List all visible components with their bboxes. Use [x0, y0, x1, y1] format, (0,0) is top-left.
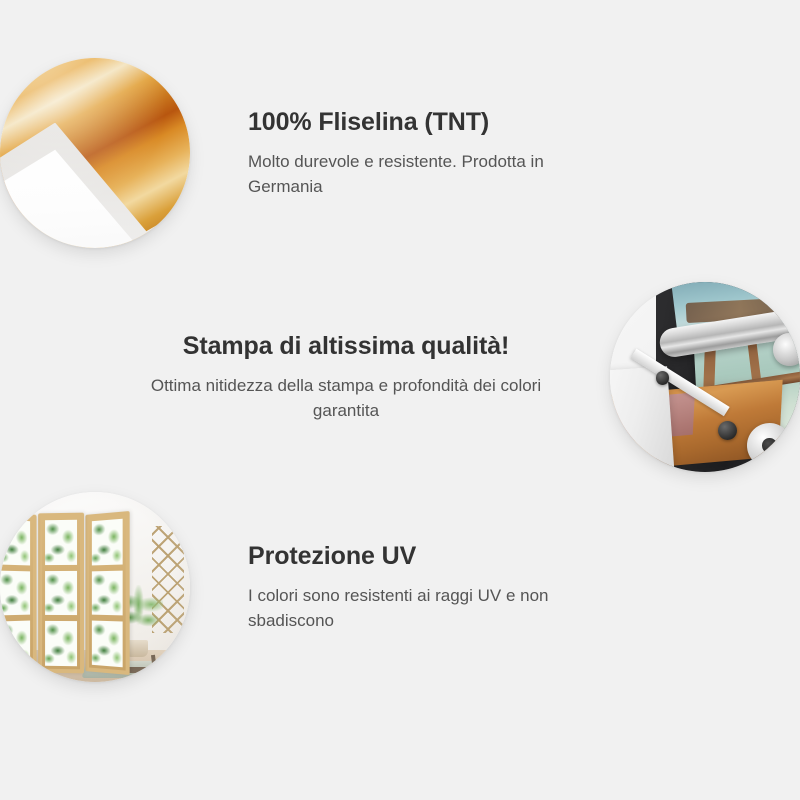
- infographic-canvas: 100% Fliselina (TNT) Molto durevole e re…: [0, 0, 800, 800]
- photo-highlight: [0, 58, 190, 248]
- peeling-wallpaper-photo: [0, 58, 190, 248]
- printing-machine-photo: [610, 282, 800, 472]
- feature-copy-uv-protection: Protezione UV I colori sono resistenti a…: [190, 541, 700, 634]
- feature-row-material: 100% Fliselina (TNT) Molto durevole e re…: [0, 58, 700, 248]
- feature-copy-material: 100% Fliselina (TNT) Molto durevole e re…: [190, 107, 700, 200]
- divider-panel-3: [85, 511, 129, 675]
- room-divider-screen: [0, 513, 129, 673]
- feature-body-material: Molto durevole e resistente. Prodotta in…: [248, 149, 588, 200]
- feature-heading-print-quality: Stampa di altissima qualità!: [124, 331, 568, 361]
- printing-machine-scene: [610, 282, 800, 472]
- feature-row-print-quality: Stampa di altissima qualità! Ottima niti…: [100, 282, 800, 472]
- monstera-print-pane: [91, 519, 121, 565]
- feature-heading-uv-protection: Protezione UV: [248, 541, 676, 571]
- feature-body-print-quality: Ottima nitidezza della stampa e profondi…: [124, 373, 568, 424]
- feature-body-uv-protection: I colori sono resistenti ai raggi UV e n…: [248, 583, 588, 634]
- monstera-print-pane: [45, 520, 77, 565]
- monstera-print-pane: [0, 519, 30, 565]
- feature-row-uv-protection: Protezione UV I colori sono resistenti a…: [0, 492, 700, 682]
- peeling-wallpaper-scene: [0, 58, 190, 248]
- monstera-print-pane: [91, 570, 121, 615]
- monstera-print-pane: [45, 570, 77, 615]
- tropical-room-divider-photo: [0, 492, 190, 682]
- adjustment-knob-upper: [656, 371, 669, 384]
- feature-heading-material: 100% Fliselina (TNT): [248, 107, 676, 137]
- divider-panel-2: [38, 513, 84, 673]
- monstera-print-pane: [0, 620, 30, 666]
- monstera-print-pane: [91, 620, 121, 666]
- roller-end-cap: [773, 333, 800, 365]
- monstera-print-pane: [0, 570, 30, 615]
- tropical-room-scene: [0, 492, 190, 682]
- adjustment-knob-lower: [718, 421, 737, 440]
- divider-panel-1: [0, 511, 37, 675]
- monstera-print-pane: [45, 621, 77, 666]
- feature-copy-print-quality: Stampa di altissima qualità! Ottima niti…: [100, 331, 610, 424]
